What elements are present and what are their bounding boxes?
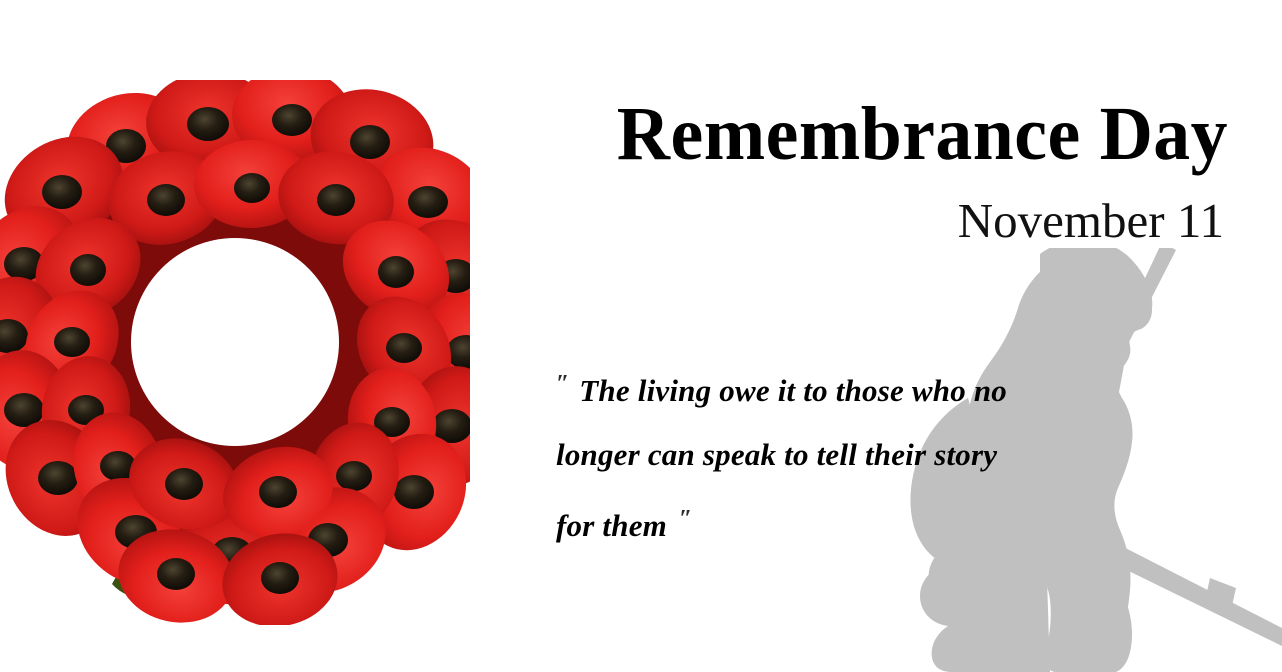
quote-line-1-text: The living owe it to those who no bbox=[579, 373, 1007, 408]
quote-line-3: for them″ bbox=[556, 487, 1216, 558]
memorial-quote: ″The living owe it to those who no longe… bbox=[556, 352, 1216, 558]
remembrance-day-poster: Remembrance Day November 11 ″The living … bbox=[0, 0, 1282, 672]
quote-line-2: longer can speak to tell their story bbox=[556, 423, 1216, 487]
open-quote-mark: ″ bbox=[556, 371, 569, 397]
text-content: Remembrance Day November 11 ″The living … bbox=[0, 0, 1282, 672]
quote-line-1: ″The living owe it to those who no bbox=[556, 352, 1216, 423]
page-subtitle-date: November 11 bbox=[0, 196, 1224, 245]
quote-line-3-text: for them bbox=[556, 508, 667, 543]
close-quote-mark: ″ bbox=[679, 506, 692, 532]
quote-line-2-text: longer can speak to tell their story bbox=[556, 437, 997, 472]
page-title: Remembrance Day bbox=[37, 96, 1228, 172]
